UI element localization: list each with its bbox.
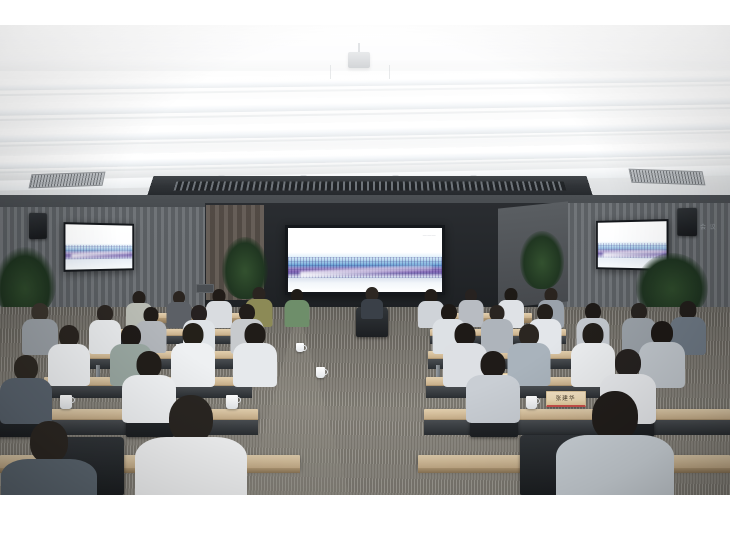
attendee-foreground-right [578,391,652,495]
wall-speaker-right [677,208,697,236]
attendee [286,289,308,325]
potted-plant-center-right [520,231,564,289]
attendee-foreground-left [156,395,226,495]
left-monitor-image [65,224,132,270]
photo-frame: ——— 会 议 [0,0,730,548]
coffee-mug [526,396,537,409]
air-vent-left [29,172,106,189]
ceiling-panel-joint [330,65,390,79]
left-wall-monitor [63,222,134,272]
center-screen-image: ——— [288,228,442,292]
attendee [472,351,514,417]
attendee [576,323,610,381]
attendee [6,355,46,417]
coffee-mug [60,395,72,409]
attendee-foreground-far-left [18,421,80,495]
center-led-wall: ——— [285,225,445,295]
conference-room-photograph: ——— 会 议 [0,25,730,495]
attendee [176,323,210,381]
coffee-mug [316,367,325,378]
air-vent-right [629,169,706,186]
attendee [52,325,86,381]
right-wall-signage: 会 议 [700,225,717,233]
attendee [460,289,482,325]
lighting-truss [174,181,567,190]
coffee-mug [226,395,238,409]
coffee-mug [296,343,304,352]
screen-watermark: ——— [423,233,436,237]
attendee [512,324,546,381]
attendee [484,305,510,351]
attendee [26,303,54,351]
wall-speaker-left [29,213,47,239]
presenter [362,287,382,315]
attendee [238,323,272,381]
